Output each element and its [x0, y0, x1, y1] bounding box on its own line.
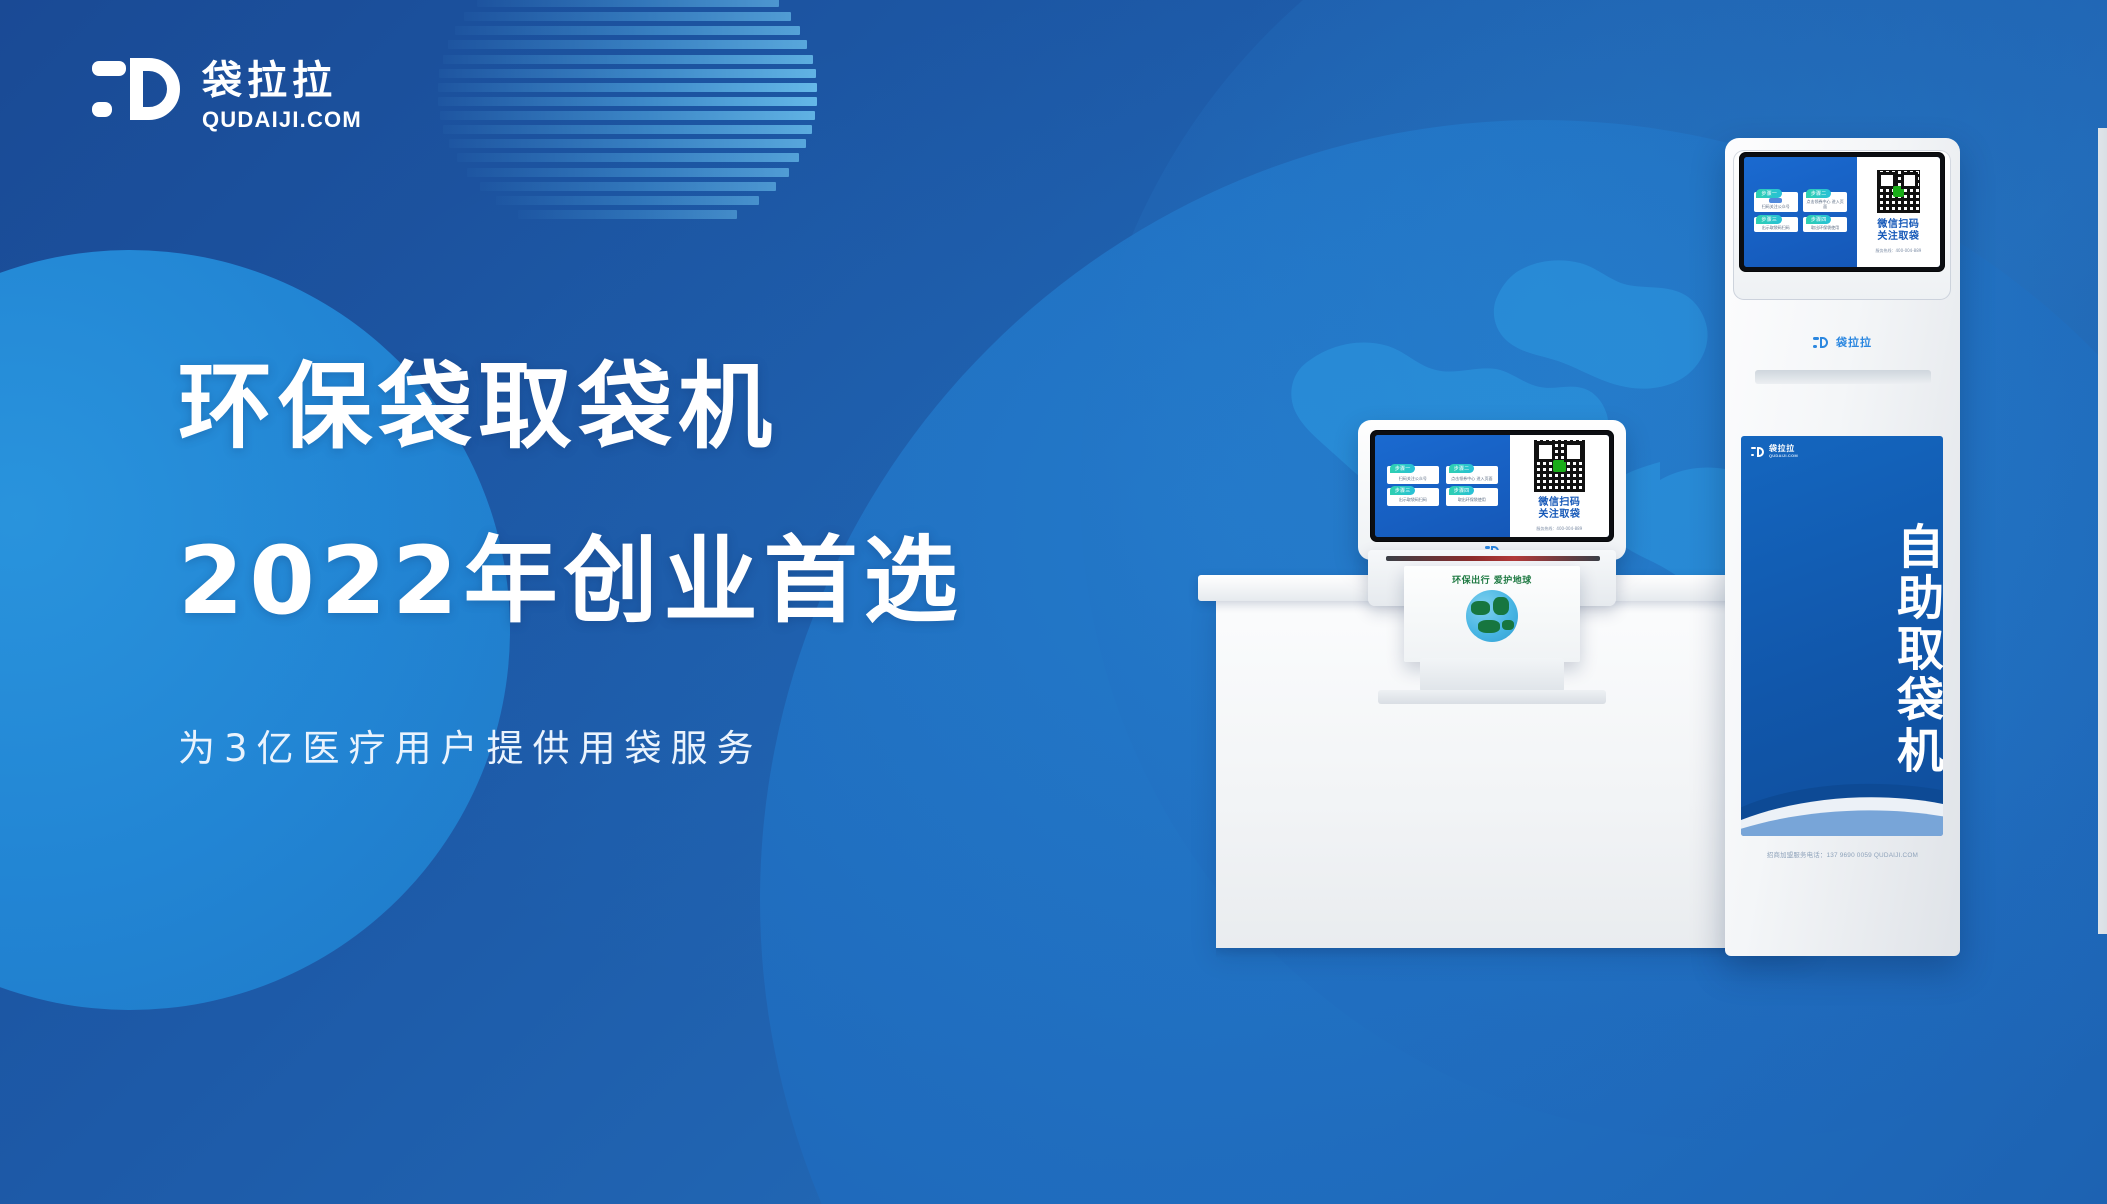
kiosk-body-brand: 袋拉拉: [1725, 326, 1960, 358]
scan-icon: [1769, 198, 1782, 203]
qr-hotline: 服务热线：400-004-889: [1876, 248, 1922, 254]
countertop-steps-panel: 步骤一 扫码关注公众号 步骤二 点击领券中心 进入页面 步骤三 出: [1375, 435, 1510, 537]
kiosk-side-panel: [2098, 128, 2107, 934]
step-caption: 出示取袋码扫码: [1396, 497, 1430, 502]
headline-line-2: 2022年创业首选: [178, 534, 964, 630]
product-scene: 步骤一 扫码关注公众号 步骤二 点击领券中心 进入页面 步骤三 出: [1180, 120, 2100, 1120]
step-caption: 点击领券中心 进入页面: [1803, 199, 1847, 209]
kiosk-footnote: 招商加盟服务电话：137 9690 0059 QUDAIJI.COM: [1734, 850, 1950, 859]
step-caption: 取出环保袋使用: [1808, 225, 1841, 230]
wechat-qr-code-icon[interactable]: [1534, 440, 1586, 492]
banner-canvas: 袋拉拉 QUDAIJI.COM 环保袋取袋机 2022年创业首选 为3亿医疗用户…: [0, 0, 2107, 1204]
hero-subtitle: 为3亿医疗用户提供用袋服务: [178, 718, 964, 772]
countertop-machine-stand: [1420, 658, 1564, 692]
kiosk-touchscreen[interactable]: 步骤一 扫码关注公众号 步骤二 点击领券中心 进入页面 步骤三 出: [1739, 152, 1945, 272]
step-card[interactable]: 步骤三 出示取袋码扫码: [1387, 488, 1439, 506]
kiosk-bag-dispense-slot: [1755, 370, 1931, 384]
bag-cut-bar: [1386, 556, 1600, 561]
panel-brand-domain: QUDAIJI.COM: [1769, 454, 1798, 458]
step-card[interactable]: 步骤三 出示取袋码扫码: [1754, 217, 1798, 233]
step-tag: 步骤二: [1806, 189, 1832, 198]
panel-brand-logo: 袋拉拉 QUDAIJI.COM: [1751, 445, 1798, 458]
step-tag: 步骤四: [1449, 486, 1475, 495]
step-card[interactable]: 步骤二 点击领券中心 进入页面: [1446, 466, 1498, 484]
countertop-machine: 步骤一 扫码关注公众号 步骤二 点击领券中心 进入页面 步骤三 出: [1358, 420, 1626, 602]
brand-name-cn: 袋拉拉: [202, 60, 362, 102]
brand-logo-text: 袋拉拉 QUDAIJI.COM: [202, 58, 362, 133]
kiosk-brand-name-cn: 袋拉拉: [1836, 334, 1872, 350]
step-card[interactable]: 步骤一 扫码关注公众号: [1387, 466, 1439, 484]
step-tag: 步骤三: [1756, 215, 1782, 224]
step-card[interactable]: 步骤四 取出环保袋使用: [1446, 488, 1498, 506]
colon-d-logo-icon: [92, 58, 180, 120]
kiosk-qr-panel: 微信扫码 关注取袋 服务热线：400-004-889: [1857, 157, 1940, 267]
kiosk-steps-panel: 步骤一 扫码关注公众号 步骤二 点击领券中心 进入页面 步骤三 出: [1744, 157, 1857, 267]
colon-d-logo-icon: [1751, 447, 1765, 457]
panel-wave-decoration: [1741, 754, 1943, 836]
qr-caption: 微信扫码 关注取袋: [1538, 497, 1580, 521]
step-caption: 取出环保袋使用: [1455, 497, 1489, 502]
globe-icon: [1466, 590, 1518, 642]
headline-line-1: 环保袋取袋机: [178, 360, 964, 456]
qr-caption-line-2: 关注取袋: [1877, 231, 1919, 243]
panel-brand-name-cn: 袋拉拉: [1769, 445, 1798, 453]
step-tag: 步骤一: [1390, 464, 1416, 473]
countertop-qr-panel: 微信扫码 关注取袋 服务热线：400-004-889: [1510, 435, 1609, 537]
striped-sphere-decoration: [430, 0, 810, 222]
eco-bag: 环保出行 爱护地球: [1404, 566, 1580, 662]
qr-caption: 微信扫码 关注取袋: [1877, 219, 1919, 243]
step-caption: 点击领券中心 进入页面: [1448, 476, 1496, 481]
step-tag: 步骤二: [1449, 464, 1475, 473]
step-card[interactable]: 步骤二 点击领券中心 进入页面: [1803, 192, 1847, 213]
brand-logo[interactable]: 袋拉拉 QUDAIJI.COM: [92, 58, 362, 133]
step-caption: 扫码关注公众号: [1759, 204, 1792, 209]
qr-caption-line-1: 微信扫码: [1877, 219, 1919, 231]
brand-domain: QUDAIJI.COM: [202, 107, 362, 133]
eco-bag-label: 环保出行 爱护地球: [1404, 573, 1580, 586]
step-tag: 步骤三: [1390, 486, 1416, 495]
step-card[interactable]: 步骤四 取出环保袋使用: [1803, 217, 1847, 233]
countertop-machine-base: [1378, 690, 1606, 704]
step-card[interactable]: 步骤一 扫码关注公众号: [1754, 192, 1798, 213]
floor-standing-kiosk: 步骤一 扫码关注公众号 步骤二 点击领券中心 进入页面 步骤三 出: [1725, 138, 1960, 956]
qr-hotline: 服务热线：400-004-889: [1536, 526, 1582, 532]
step-caption: 扫码关注公众号: [1396, 476, 1430, 481]
kiosk-graphic-panel: 袋拉拉 QUDAIJI.COM 自助取袋机: [1741, 436, 1943, 836]
colon-d-logo-icon: [1813, 337, 1829, 348]
countertop-touchscreen[interactable]: 步骤一 扫码关注公众号 步骤二 点击领券中心 进入页面 步骤三 出: [1370, 430, 1614, 542]
step-caption: 出示取袋码扫码: [1759, 225, 1792, 230]
step-tag: 步骤一: [1756, 189, 1782, 198]
hero-copy-block: 环保袋取袋机 2022年创业首选 为3亿医疗用户提供用袋服务: [178, 360, 964, 772]
qr-caption-line-2: 关注取袋: [1538, 509, 1580, 521]
wechat-qr-code-icon[interactable]: [1877, 170, 1920, 213]
qr-caption-line-1: 微信扫码: [1538, 497, 1580, 509]
step-tag: 步骤四: [1806, 215, 1832, 224]
